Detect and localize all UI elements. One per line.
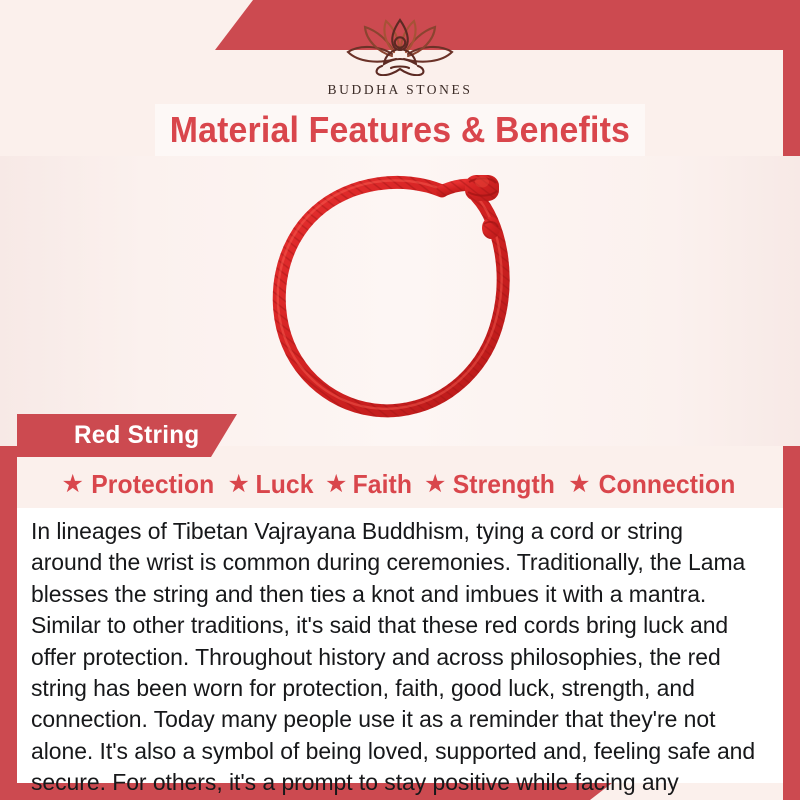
product-image-area [0,156,800,446]
benefit-label: Strength [453,469,555,500]
lotus-meditation-icon [0,14,800,81]
benefit-label: Connection [598,469,735,500]
benefit-label: Luck [255,469,313,500]
benefit-item-luck: ★ Luck [222,469,320,500]
red-string-bracelet-image [272,162,528,439]
benefit-item-faith: ★ Faith [320,469,419,500]
star-icon: ★ [325,472,347,497]
benefits-row: ★ Protection ★ Luck ★ Faith ★ Strength ★… [17,463,783,505]
description-paragraph: In lineages of Tibetan Vajrayana Buddhis… [31,516,756,800]
star-icon: ★ [227,472,249,497]
infographic-page: BUDDHA STONES Material Features & Benefi… [0,0,800,800]
brand-logo: BUDDHA STONES [0,14,800,98]
star-icon: ★ [568,472,590,497]
frame-left-bar [0,403,17,800]
benefit-item-strength: ★ Strength [419,469,563,500]
star-icon: ★ [424,472,446,497]
star-icon: ★ [61,472,83,497]
section-ribbon-label: Red String [74,421,200,450]
benefit-item-protection: ★ Protection [56,469,222,500]
page-title: Material Features & Benefits [170,109,630,151]
section-ribbon: Red String [17,414,237,457]
brand-name: BUDDHA STONES [0,82,800,98]
benefit-label: Faith [353,469,412,500]
description-block: In lineages of Tibetan Vajrayana Buddhis… [17,508,783,783]
title-band: Material Features & Benefits [155,104,645,156]
benefit-item-connection: ★ Connection [563,469,743,500]
benefit-label: Protection [91,469,214,500]
